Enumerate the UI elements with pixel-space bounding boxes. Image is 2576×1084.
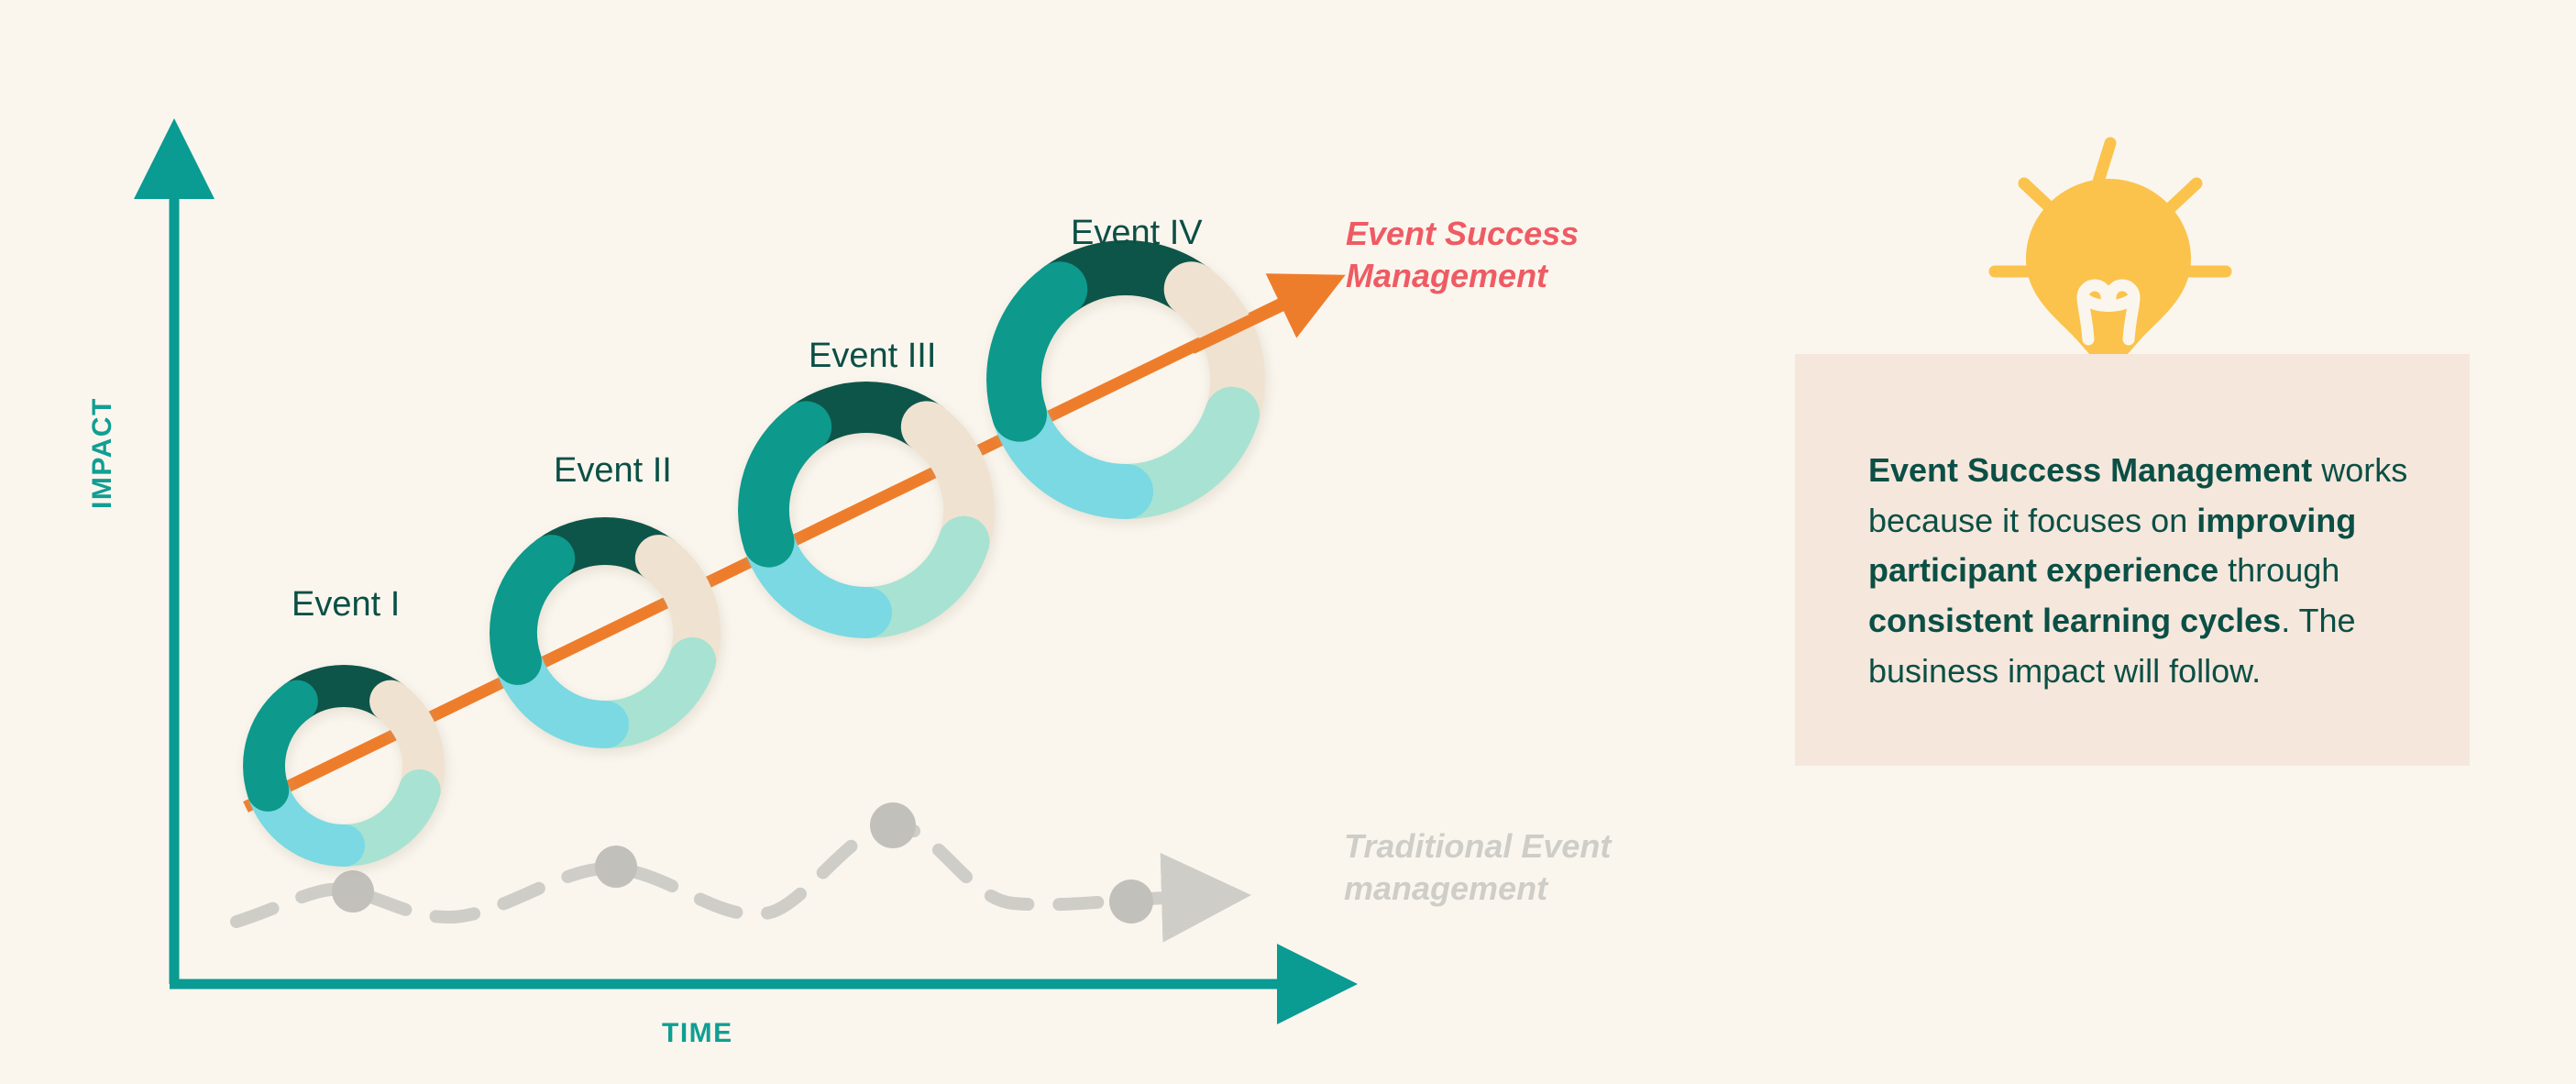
traditional-trend-dot [595,846,637,888]
impact-time-chart [0,0,1742,1084]
traditional-trend-dot [332,870,374,913]
insight-plain: through [2218,551,2339,589]
traditional-trend-dot [1109,879,1153,924]
y-axis-label: IMPACT [87,397,118,509]
lightbulb-glass [2026,179,2191,376]
insight-emphasis: consistent learning cycles [1868,602,2281,639]
event-label-2: Event II [554,451,672,491]
infographic-canvas: IMPACT TIME Event I Event II Event III E… [0,0,2576,1084]
insight-card-text: Event Success Management works because i… [1868,446,2429,697]
traditional-trend-label: Traditional Event management [1344,825,1611,910]
success-trend-label: Event Success Management [1346,213,1579,297]
traditional-trend-dot [870,802,916,848]
event-label-1: Event I [292,585,400,625]
x-axis-label: TIME [662,1018,733,1049]
insight-emphasis: Event Success Management [1868,451,2312,489]
event-label-3: Event III [809,337,936,376]
event-label-4: Event IV [1071,214,1203,253]
